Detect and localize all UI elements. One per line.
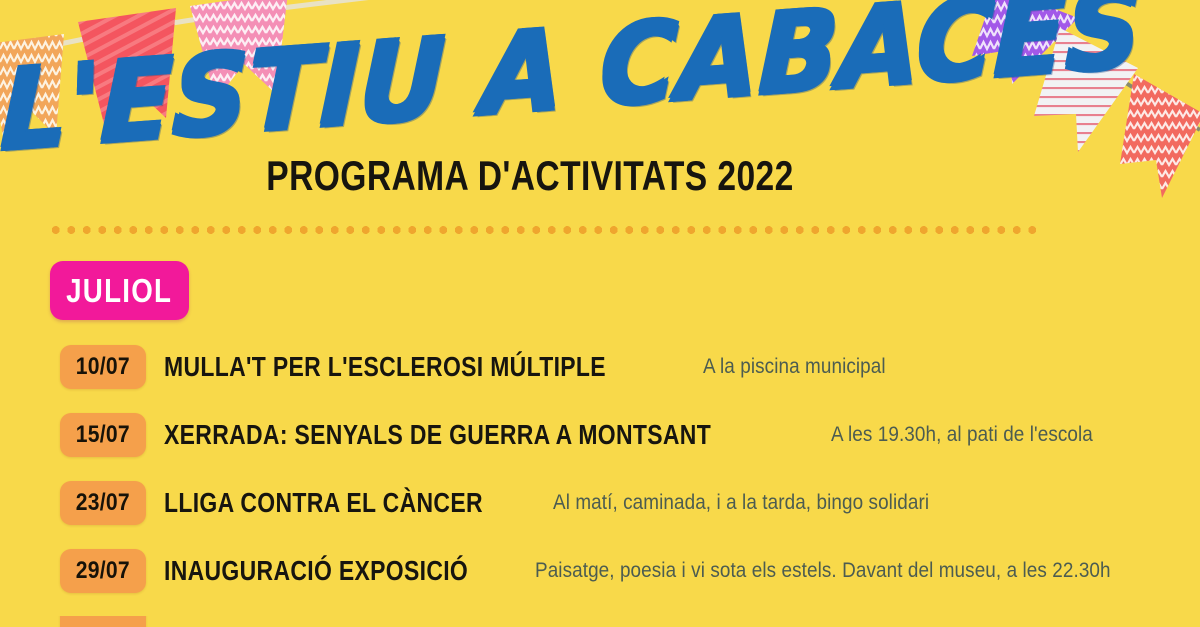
event-date: 15/07 (76, 421, 130, 449)
event-title: XERRADA: SENYALS DE GUERRA A MONTSANT (164, 419, 711, 451)
event-date: 10/07 (76, 353, 130, 381)
event-row: 15/07 XERRADA: SENYALS DE GUERRA A MONTS… (0, 412, 1200, 458)
event-list: 10/07 MULLA'T PER L'ESCLEROSI MÚLTIPLE A… (0, 344, 1200, 627)
event-row: 10/07 MULLA'T PER L'ESCLEROSI MÚLTIPLE A… (0, 344, 1200, 390)
event-date-pill: 29/07 (60, 549, 146, 593)
event-date-pill: 23/07 (60, 481, 146, 525)
month-badge-label: JULIOL (66, 272, 172, 310)
event-date: 29/07 (76, 557, 130, 585)
event-title: LLIGA CONTRA EL CÀNCER (164, 487, 483, 519)
flag-coral-zigzag (1120, 74, 1200, 198)
event-date-pill: 10/07 (60, 345, 146, 389)
event-date-pill (60, 616, 146, 627)
page-subtitle: PROGRAMA D'ACTIVITATS 2022 (106, 152, 954, 200)
event-description: Al matí, caminada, i a la tarda, bingo s… (553, 491, 929, 515)
event-title: INAUGURACIÓ EXPOSICIÓ (164, 555, 468, 587)
dotted-divider (48, 226, 1038, 234)
main-title-wrap: L'ESTIU A CABACÉS (0, 0, 1063, 166)
event-title: MULLA'T PER L'ESCLEROSI MÚLTIPLE (164, 351, 606, 383)
event-date: 23/07 (76, 489, 130, 517)
page-title: L'ESTIU A CABACÉS (0, 0, 1144, 170)
event-row: 23/07 LLIGA CONTRA EL CÀNCER Al matí, ca… (0, 480, 1200, 526)
event-date-pill: 15/07 (60, 413, 146, 457)
event-description: A les 19.30h, al pati de l'escola (831, 423, 1093, 447)
event-row-clipped (0, 616, 1200, 627)
poster-canvas: L'ESTIU A CABACÉS PROGRAMA D'ACTIVITATS … (0, 0, 1200, 627)
event-description: Paisatge, poesia i vi sota els estels. D… (535, 559, 1111, 583)
event-row: 29/07 INAUGURACIÓ EXPOSICIÓ Paisatge, po… (0, 548, 1200, 594)
month-badge: JULIOL (50, 261, 189, 320)
event-description: A la piscina municipal (703, 355, 886, 379)
